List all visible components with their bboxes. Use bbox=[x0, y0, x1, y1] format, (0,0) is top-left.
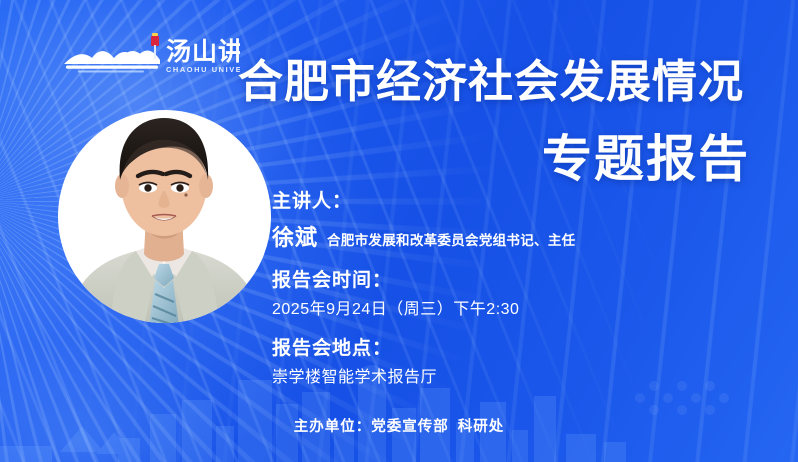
mountain-logo-icon: 汤山讲坛 CHAOHU UNIVERSITY bbox=[62, 24, 240, 76]
organizer-label: 主办单位： bbox=[294, 419, 372, 435]
time-value: 2025年9月24日（周三）下午2:30 bbox=[272, 300, 575, 321]
venue-group: 报告会地点： 崇学楼智能学术报告厅 bbox=[272, 337, 575, 389]
logo: 汤山讲坛 CHAOHU UNIVERSITY bbox=[62, 24, 240, 76]
speaker-label: 主讲人： bbox=[272, 190, 575, 214]
speaker-name: 徐斌 bbox=[272, 220, 318, 252]
event-poster: 汤山讲坛 CHAOHU UNIVERSITY bbox=[0, 0, 798, 462]
speaker-title: 合肥市发展和改革委员会党组书记、主任 bbox=[327, 229, 575, 249]
avatar bbox=[58, 110, 271, 323]
time-label: 报告会时间： bbox=[272, 269, 575, 293]
venue-label: 报告会地点： bbox=[272, 337, 575, 361]
organizer-footer: 主办单位：党委宣传部科研处 bbox=[0, 415, 798, 436]
svg-text:汤山讲坛: 汤山讲坛 bbox=[166, 38, 240, 66]
speaker-row: 徐斌 合肥市发展和改革委员会党组书记、主任 bbox=[272, 220, 575, 252]
logo-en-label: CHAOHU UNIVERSITY bbox=[166, 65, 240, 74]
avatar-circle bbox=[58, 110, 271, 323]
event-details: 主讲人： 徐斌 合肥市发展和改革委员会党组书记、主任 报告会时间： 2025年9… bbox=[272, 190, 575, 389]
time-group: 报告会时间： 2025年9月24日（周三）下午2:30 bbox=[272, 269, 575, 321]
page-title-line2: 专题报告 bbox=[542, 134, 750, 184]
organizer-name-1: 党委宣传部 bbox=[371, 419, 449, 435]
speaker-portrait-illustration bbox=[58, 110, 271, 323]
venue-value: 崇学楼智能学术报告厅 bbox=[272, 368, 575, 389]
organizer-name-2: 科研处 bbox=[458, 419, 505, 435]
page-title-line1: 合肥市经济社会发展情况 bbox=[238, 59, 744, 104]
